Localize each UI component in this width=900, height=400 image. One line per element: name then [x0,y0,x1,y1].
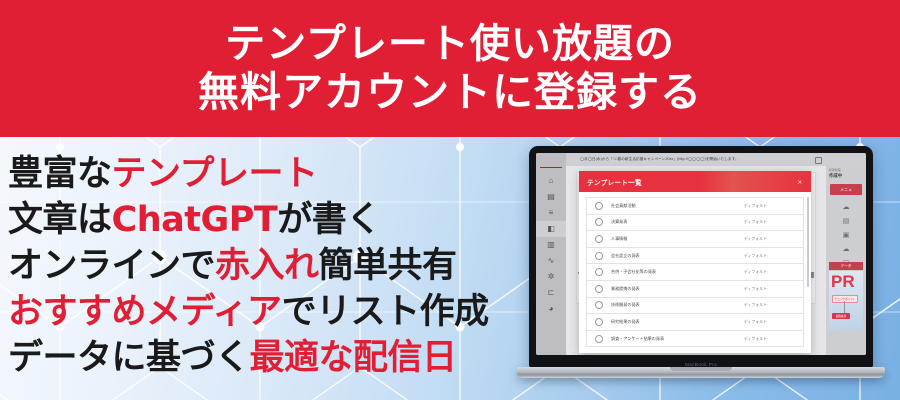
radio-icon[interactable] [595,285,603,293]
feature-1-prefix: 豊富な [8,154,112,194]
modal-title: テンプレート一覧 [587,177,642,187]
app-topbar-text: ◯月◯日(水)から「□□春の新生活応援キャンペーン20xx」(http://◯◯… [580,157,739,162]
radio-icon[interactable] [595,268,603,276]
cloud-upload-icon[interactable]: ☁ [826,200,866,214]
right-panel-icons: ☁ ▤ ▣ ☁ ▢ [826,200,866,270]
template-kind: ディフォルト [744,219,767,225]
thumbnail-connector [844,301,845,313]
list-icon[interactable]: ≡ [536,205,566,221]
table-row[interactable]: 人事情報 ディフォルト [586,230,804,247]
template-list-modal: テンプレート一覧 × 社会貢献活動 ディフォルト 決算発表 [579,171,811,353]
template-kind: ディフォルト [744,269,767,275]
table-row[interactable]: 決算発表 ディフォルト [586,214,804,231]
laptop-screen: ◯月◯日(水)から「□□春の新生活応援キャンペーン20xx」(http://◯◯… [536,153,866,355]
radio-icon[interactable] [595,235,603,243]
thumbnail-chip-2: 最終確認 [832,313,850,319]
app-left-sidebar: ⌂ ▤ ≡ ◧ ▥ ∿ ✲ ⊏ ◕ [536,153,566,355]
radio-icon[interactable] [595,318,603,326]
calendar-icon[interactable]: ▤ [536,189,566,205]
feature-line-2: 文章はChatGPTが書く [8,197,508,243]
feature-4-suffix: でリスト作成 [282,292,489,332]
radio-icon[interactable] [595,202,603,210]
modal-body: 社会貢献活動 ディフォルト 決算発表 ディフォルト 人事情報 [579,192,811,353]
home-icon[interactable]: ⌂ [536,173,566,189]
check-doc-icon[interactable]: ▣ [826,228,866,242]
settings-icon[interactable]: ✲ [536,269,566,285]
sidebar-accent-line [540,167,562,168]
template-name: 研究結果の発表 [611,319,640,325]
document-icon[interactable]: ◧ [536,221,566,237]
template-name: 決算発表 [611,219,627,225]
feature-line-3: オンラインで赤入れ簡単共有 [8,243,508,289]
radio-icon[interactable] [595,218,603,226]
app-topbar: ◯月◯日(水)から「□□春の新生活応援キャンペーン20xx」(http://◯◯… [536,153,866,167]
table-row[interactable]: 社会貢献活動 ディフォルト [586,197,804,214]
feature-3-highlight: 赤入れ [215,246,319,286]
status-label: 状態管理 [829,168,841,172]
press-release-thumbnail[interactable]: PR チェックポイント 最終確認 [829,271,863,331]
status-badge: 作成中 [829,173,842,179]
table-row[interactable]: 調査・アンケート結果の発表 ディフォルト [586,330,804,348]
radio-icon[interactable] [595,301,603,309]
feature-5-highlight: 最適な配信日 [250,338,457,378]
table-row[interactable]: 業務提携の発表 ディフォルト [586,280,804,297]
feature-2-prefix: 文章は [8,200,112,240]
template-kind: ディフォルト [744,203,767,209]
modal-header: テンプレート一覧 × [579,171,811,192]
analytics-icon[interactable]: ∿ [536,253,566,269]
table-row[interactable]: 合併・子会社化等の発表 ディフォルト [586,263,804,280]
feature-copy-list: 豊富なテンプレート 文章はChatGPTが書く オンラインで赤入れ簡単共有 おす… [8,151,508,381]
media-icon[interactable]: ▥ [536,237,566,253]
list-icon[interactable]: ▤ [826,214,866,228]
laptop-notch [670,367,732,371]
menu-button[interactable]: メニュ [830,184,862,195]
promo-banner: テンプレート使い放題の 無料アカウントに登録する [0,0,900,400]
headline-line-2: 無料アカウントに登録する [198,68,702,116]
feature-3-suffix: 簡単共有 [319,246,457,286]
cloud-icon[interactable]: ☁ [826,242,866,256]
table-row[interactable]: 会社設立の発表 ディフォルト [586,247,804,264]
canvas-marker [811,272,814,278]
lower-section: 豊富なテンプレート 文章はChatGPTが書く オンラインで赤入れ簡単共有 おす… [0,137,900,400]
template-name: 会社設立の発表 [611,253,640,259]
template-kind: ディフォルト [744,253,767,259]
template-kind: ディフォルト [744,302,767,308]
feature-4-highlight: おすすめメディア [8,292,282,332]
table-row[interactable]: 技術開発の発表 ディフォルト [586,297,804,314]
feature-3-prefix: オンラインで [8,246,215,286]
data-label: データ [829,262,863,270]
radio-icon[interactable] [595,252,603,260]
template-kind: ディフォルト [744,336,767,342]
modal-scrollbar[interactable] [807,197,809,287]
template-name: 技術開発の発表 [611,302,640,308]
headline-line-1: テンプレート使い放題の [225,21,675,68]
template-kind: ディフォルト [744,236,767,242]
template-name: 調査・アンケート結果の発表 [611,336,664,342]
radio-icon[interactable] [595,335,603,343]
template-name: 人事情報 [611,236,627,242]
close-icon[interactable]: × [798,178,802,186]
feature-1-highlight: テンプレート [112,154,318,194]
logout-icon[interactable]: ⊏ [536,285,566,301]
app-right-panel: 状態管理 作成中 メニュ ☁ ▤ ▣ ☁ ▢ データ PR [826,166,866,355]
feature-2-suffix: が書く [277,200,381,240]
app-left-sidebar-icons: ⌂ ▤ ≡ ◧ ▥ ∿ ✲ ⊏ ◕ [536,173,566,317]
headline-bar: テンプレート使い放題の 無料アカウントに登録する [0,0,900,137]
laptop-mockup: ◯月◯日(水)から「□□春の新生活応援キャンペーン20xx」(http://◯◯… [517,146,885,396]
template-name: 合併・子会社化等の発表 [611,269,656,275]
feature-5-prefix: データに基づく [8,338,250,378]
template-kind: ディフォルト [744,286,767,292]
feature-line-1: 豊富なテンプレート [8,151,508,197]
table-row[interactable]: 研究結果の発表 ディフォルト [586,313,804,330]
template-kind: ディフォルト [744,319,767,325]
feature-line-4: おすすめメディアでリスト作成 [8,289,508,335]
feature-2-highlight: ChatGPT [112,200,278,240]
pr-text: PR [831,273,855,290]
feature-line-5: データに基づく最適な配信日 [8,335,508,381]
help-icon[interactable]: ◕ [536,301,566,317]
template-name: 社会貢献活動 [611,203,636,209]
thumbnail-chip-1: チェックポイント [832,295,858,303]
laptop-lid: ◯月◯日(水)から「□□春の新生活応援キャンペーン20xx」(http://◯◯… [529,146,873,368]
template-name: 業務提携の発表 [611,286,640,292]
window-icon [815,157,822,164]
